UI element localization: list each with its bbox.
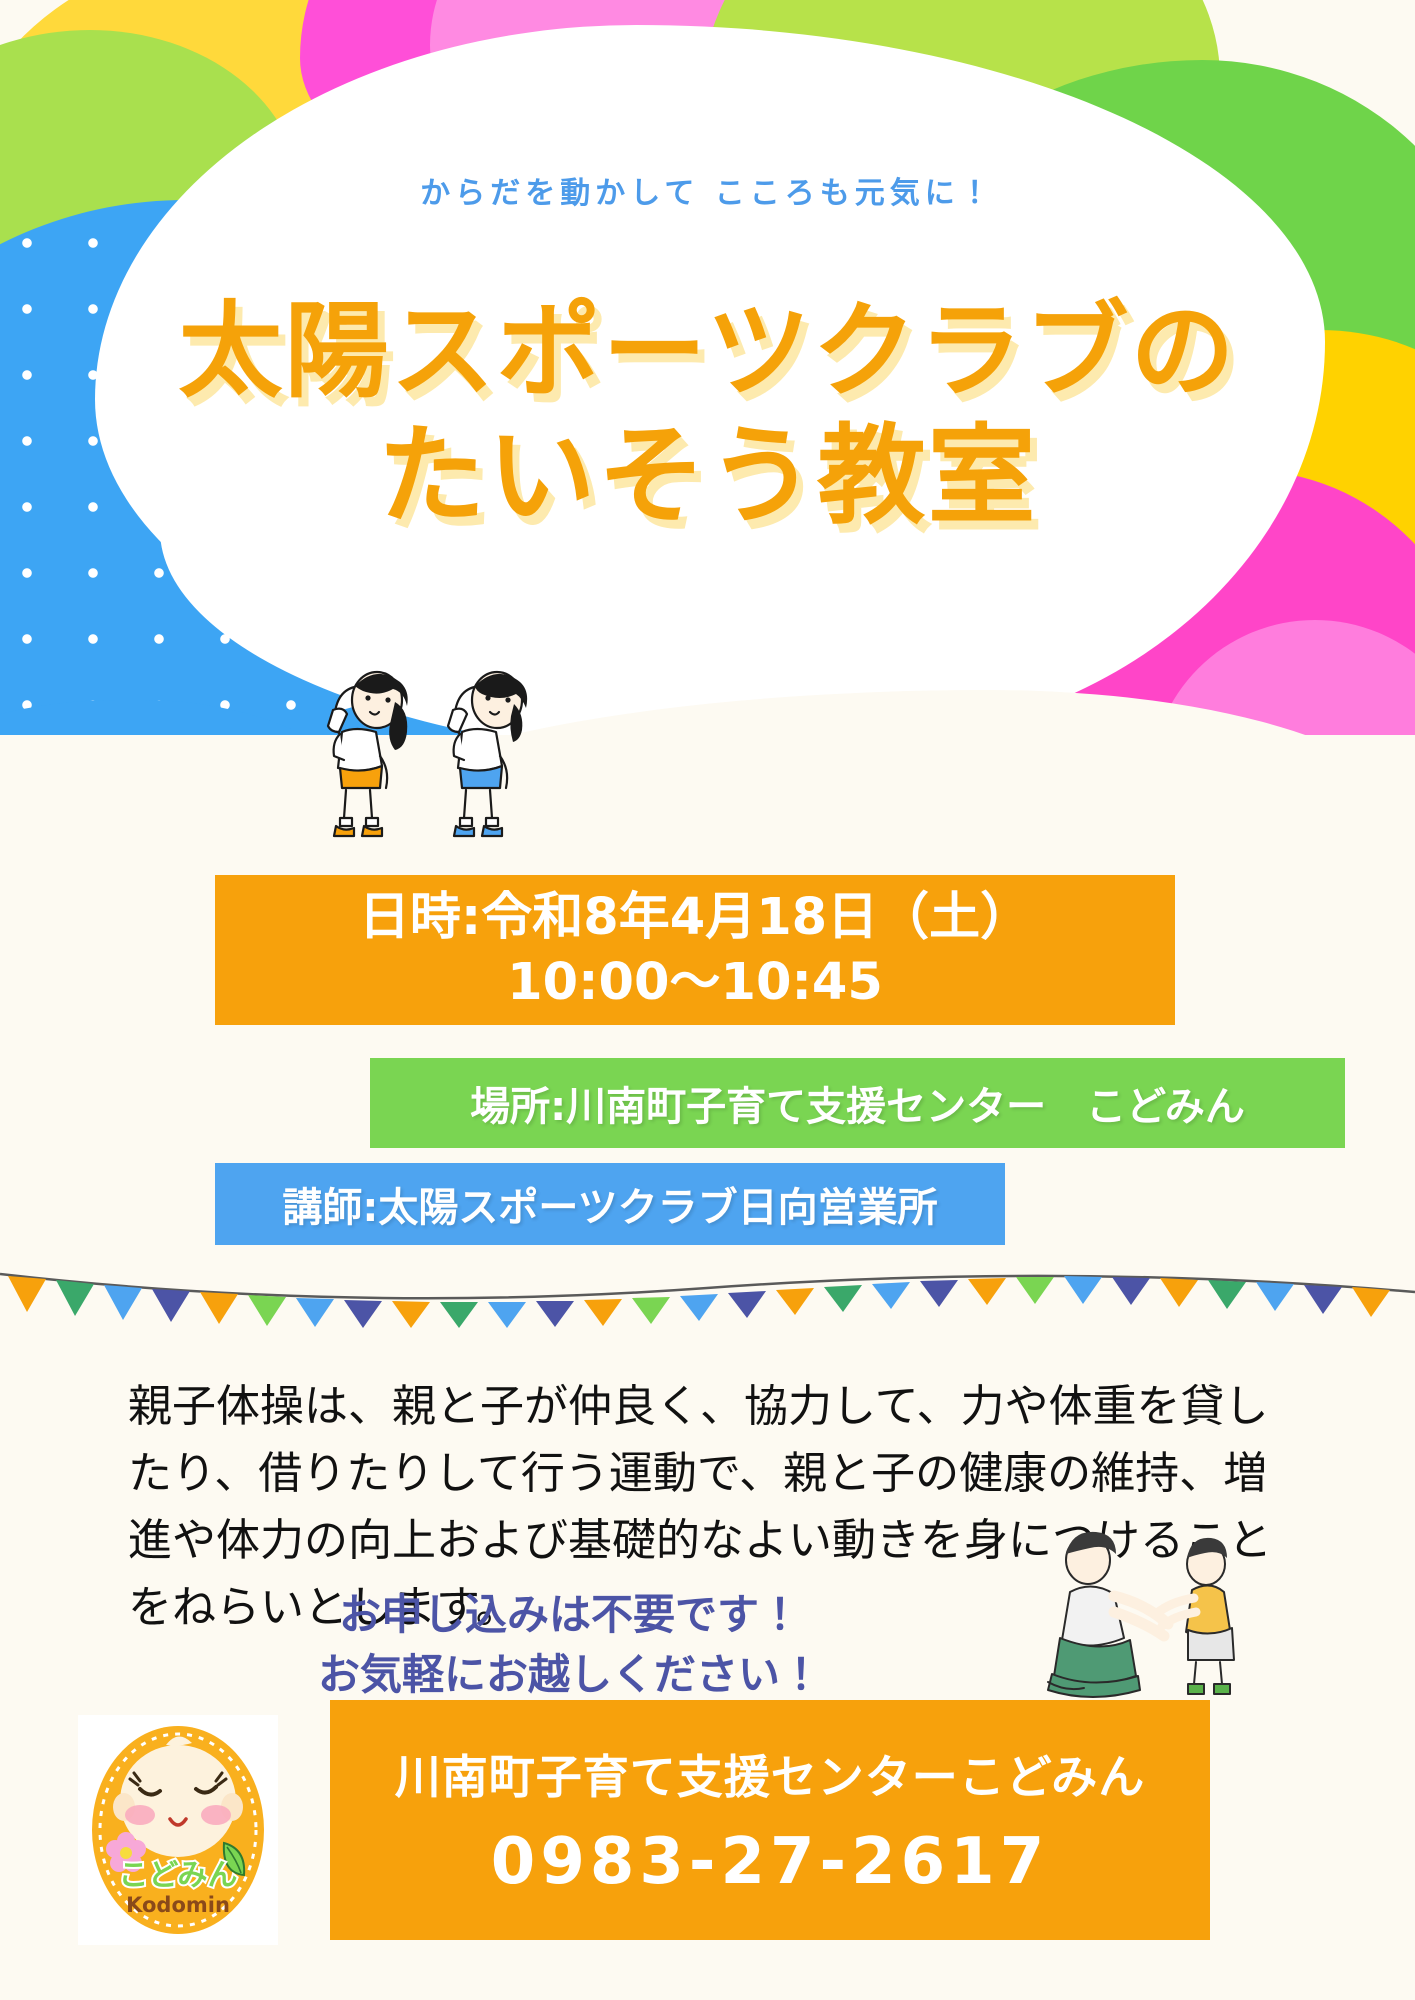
logo-text-en: Kodomin bbox=[126, 1893, 230, 1917]
time-text: 10:00～10:45 bbox=[507, 950, 883, 1015]
poster-title: 太陽スポーツクラブの たいそう教室 bbox=[0, 290, 1415, 540]
place-text: 場所:川南町子育て支援センター こどみん bbox=[470, 1074, 1245, 1132]
contact-box: 川南町子育て支援センターこどみん 0983-27-2617 bbox=[330, 1700, 1210, 1940]
contact-name: 川南町子育て支援センターこどみん bbox=[395, 1741, 1146, 1807]
bunting-svg bbox=[0, 1258, 1415, 1328]
banner-teacher: 講師:太陽スポーツクラブ日向営業所 bbox=[215, 1163, 1005, 1245]
kids-svg bbox=[300, 660, 600, 860]
banner-place: 場所:川南町子育て支援センター こどみん bbox=[370, 1058, 1345, 1148]
contact-phone: 0983-27-2617 bbox=[491, 1825, 1049, 1899]
bunting-garland bbox=[0, 1258, 1415, 1328]
parent-child-svg bbox=[1030, 1520, 1260, 1700]
date-text: 日時:令和8年4月18日（土） bbox=[359, 885, 1031, 950]
parent-child-illustration bbox=[1030, 1520, 1260, 1700]
cta-line-1: お申し込みは不要です！ bbox=[120, 1585, 1020, 1645]
title-line-2: たいそう教室 bbox=[0, 413, 1415, 540]
poster-canvas: からだを動かして こころも元気に！ 太陽スポーツクラブの たいそう教室 bbox=[0, 0, 1415, 2000]
call-to-action: お申し込みは不要です！ お気軽にお越しください！ bbox=[120, 1585, 1020, 1704]
logo-text-jp: こどみん bbox=[118, 1858, 237, 1893]
title-line-1: 太陽スポーツクラブの bbox=[0, 290, 1415, 413]
kodomin-logo: こどみん Kodomin bbox=[78, 1715, 278, 1945]
banner-date-time: 日時:令和8年4月18日（土） 10:00～10:45 bbox=[215, 875, 1175, 1025]
cta-line-2: お気軽にお越しください！ bbox=[120, 1645, 1020, 1705]
teacher-text: 講師:太陽スポーツクラブ日向営業所 bbox=[282, 1175, 937, 1233]
stretching-kids-illustration bbox=[300, 660, 600, 860]
tagline: からだを動かして こころも元気に！ bbox=[0, 168, 1415, 212]
kodomin-logo-svg: こどみん Kodomin bbox=[78, 1715, 278, 1945]
